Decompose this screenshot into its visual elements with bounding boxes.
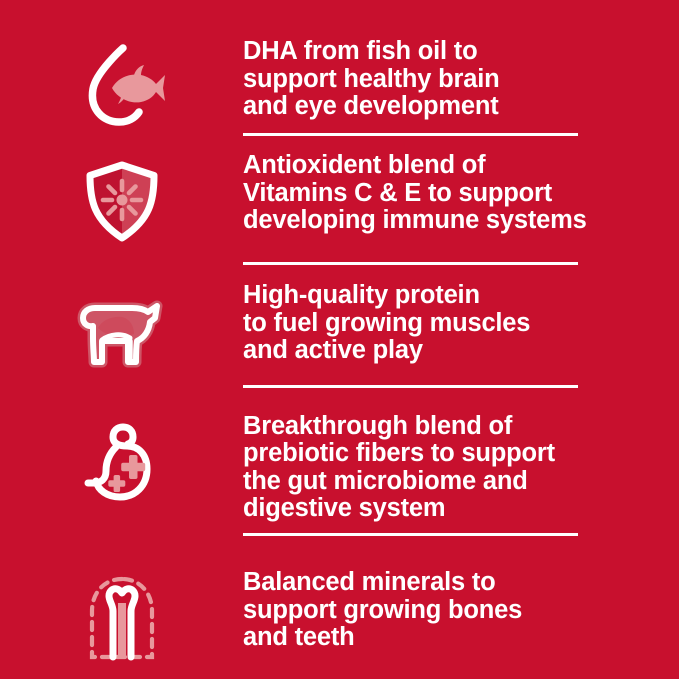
text-cell: Antioxident blend of Vitamins C & E to s… [243, 152, 679, 235]
text-cell: High-quality protein to fuel growing mus… [243, 282, 679, 365]
benefit-list: DHA from fish oil to support healthy bra… [0, 0, 679, 679]
benefit-text: Breakthrough blend of prebiotic fibers t… [243, 413, 619, 523]
benefit-item-antioxidant: Antioxident blend of Vitamins C & E to s… [0, 132, 679, 264]
benefit-item-minerals: Balanced minerals to support growing bon… [0, 549, 679, 679]
benefit-text: DHA from fish oil to support healthy bra… [243, 38, 619, 121]
dog-muscle-icon [72, 286, 172, 374]
icon-cell [0, 152, 243, 248]
benefit-text: Balanced minerals to support growing bon… [243, 569, 619, 652]
icon-cell [0, 413, 243, 509]
divider-1 [243, 133, 578, 136]
droplet-fish-icon [76, 42, 168, 128]
benefits-panel: DHA from fish oil to support healthy bra… [0, 0, 679, 679]
benefit-text: Antioxident blend of Vitamins C & E to s… [243, 152, 619, 235]
text-cell: DHA from fish oil to support healthy bra… [243, 38, 679, 121]
divider-2 [243, 262, 578, 265]
divider-4 [243, 533, 578, 536]
icon-cell [0, 569, 243, 665]
icon-cell [0, 38, 243, 128]
bone-icon [82, 573, 162, 665]
divider-3 [243, 385, 578, 388]
text-cell: Breakthrough blend of prebiotic fibers t… [243, 413, 679, 523]
icon-cell [0, 282, 243, 374]
benefit-item-dha: DHA from fish oil to support healthy bra… [0, 18, 679, 132]
benefit-item-prebiotic: Breakthrough blend of prebiotic fibers t… [0, 395, 679, 549]
shield-burst-icon [78, 156, 166, 248]
stomach-plus-icon [75, 417, 169, 509]
benefit-text: High-quality protein to fuel growing mus… [243, 282, 619, 365]
benefit-item-protein: High-quality protein to fuel growing mus… [0, 264, 679, 395]
text-cell: Balanced minerals to support growing bon… [243, 569, 679, 652]
